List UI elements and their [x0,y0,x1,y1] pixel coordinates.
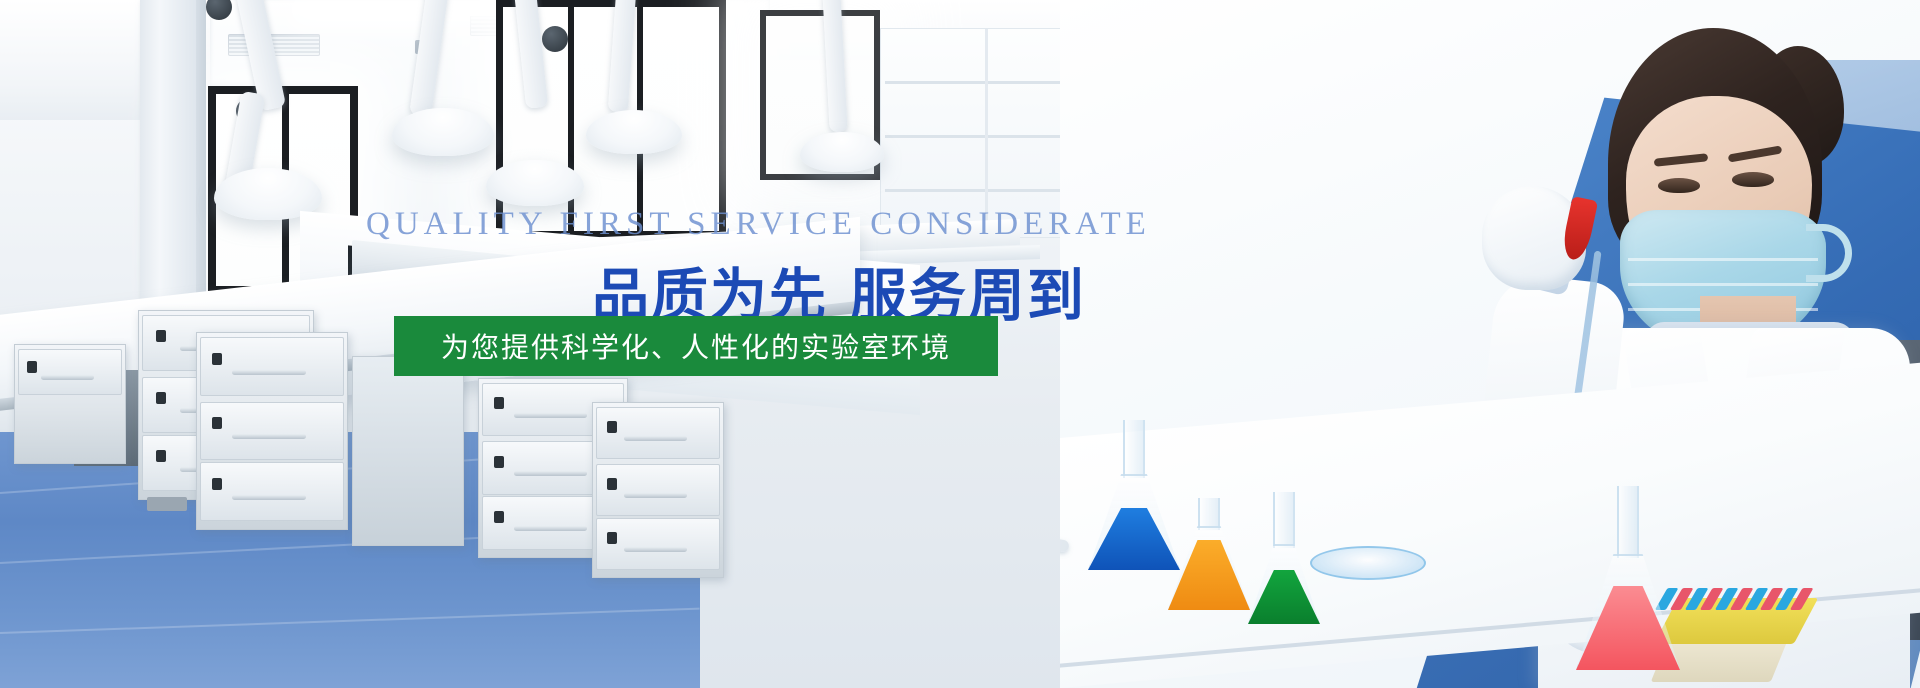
banner-text-overlay: QUALITY FIRST SERVICE CONSIDERATE 品质为先 服… [0,0,1920,688]
subheadline-green-bar: 为您提供科学化、人性化的实验室环境 [394,316,998,376]
hero-banner: QUALITY FIRST SERVICE CONSIDERATE 品质为先 服… [0,0,1920,688]
english-tagline: QUALITY FIRST SERVICE CONSIDERATE [366,206,1151,243]
subheadline-chinese: 为您提供科学化、人性化的实验室环境 [441,326,951,366]
